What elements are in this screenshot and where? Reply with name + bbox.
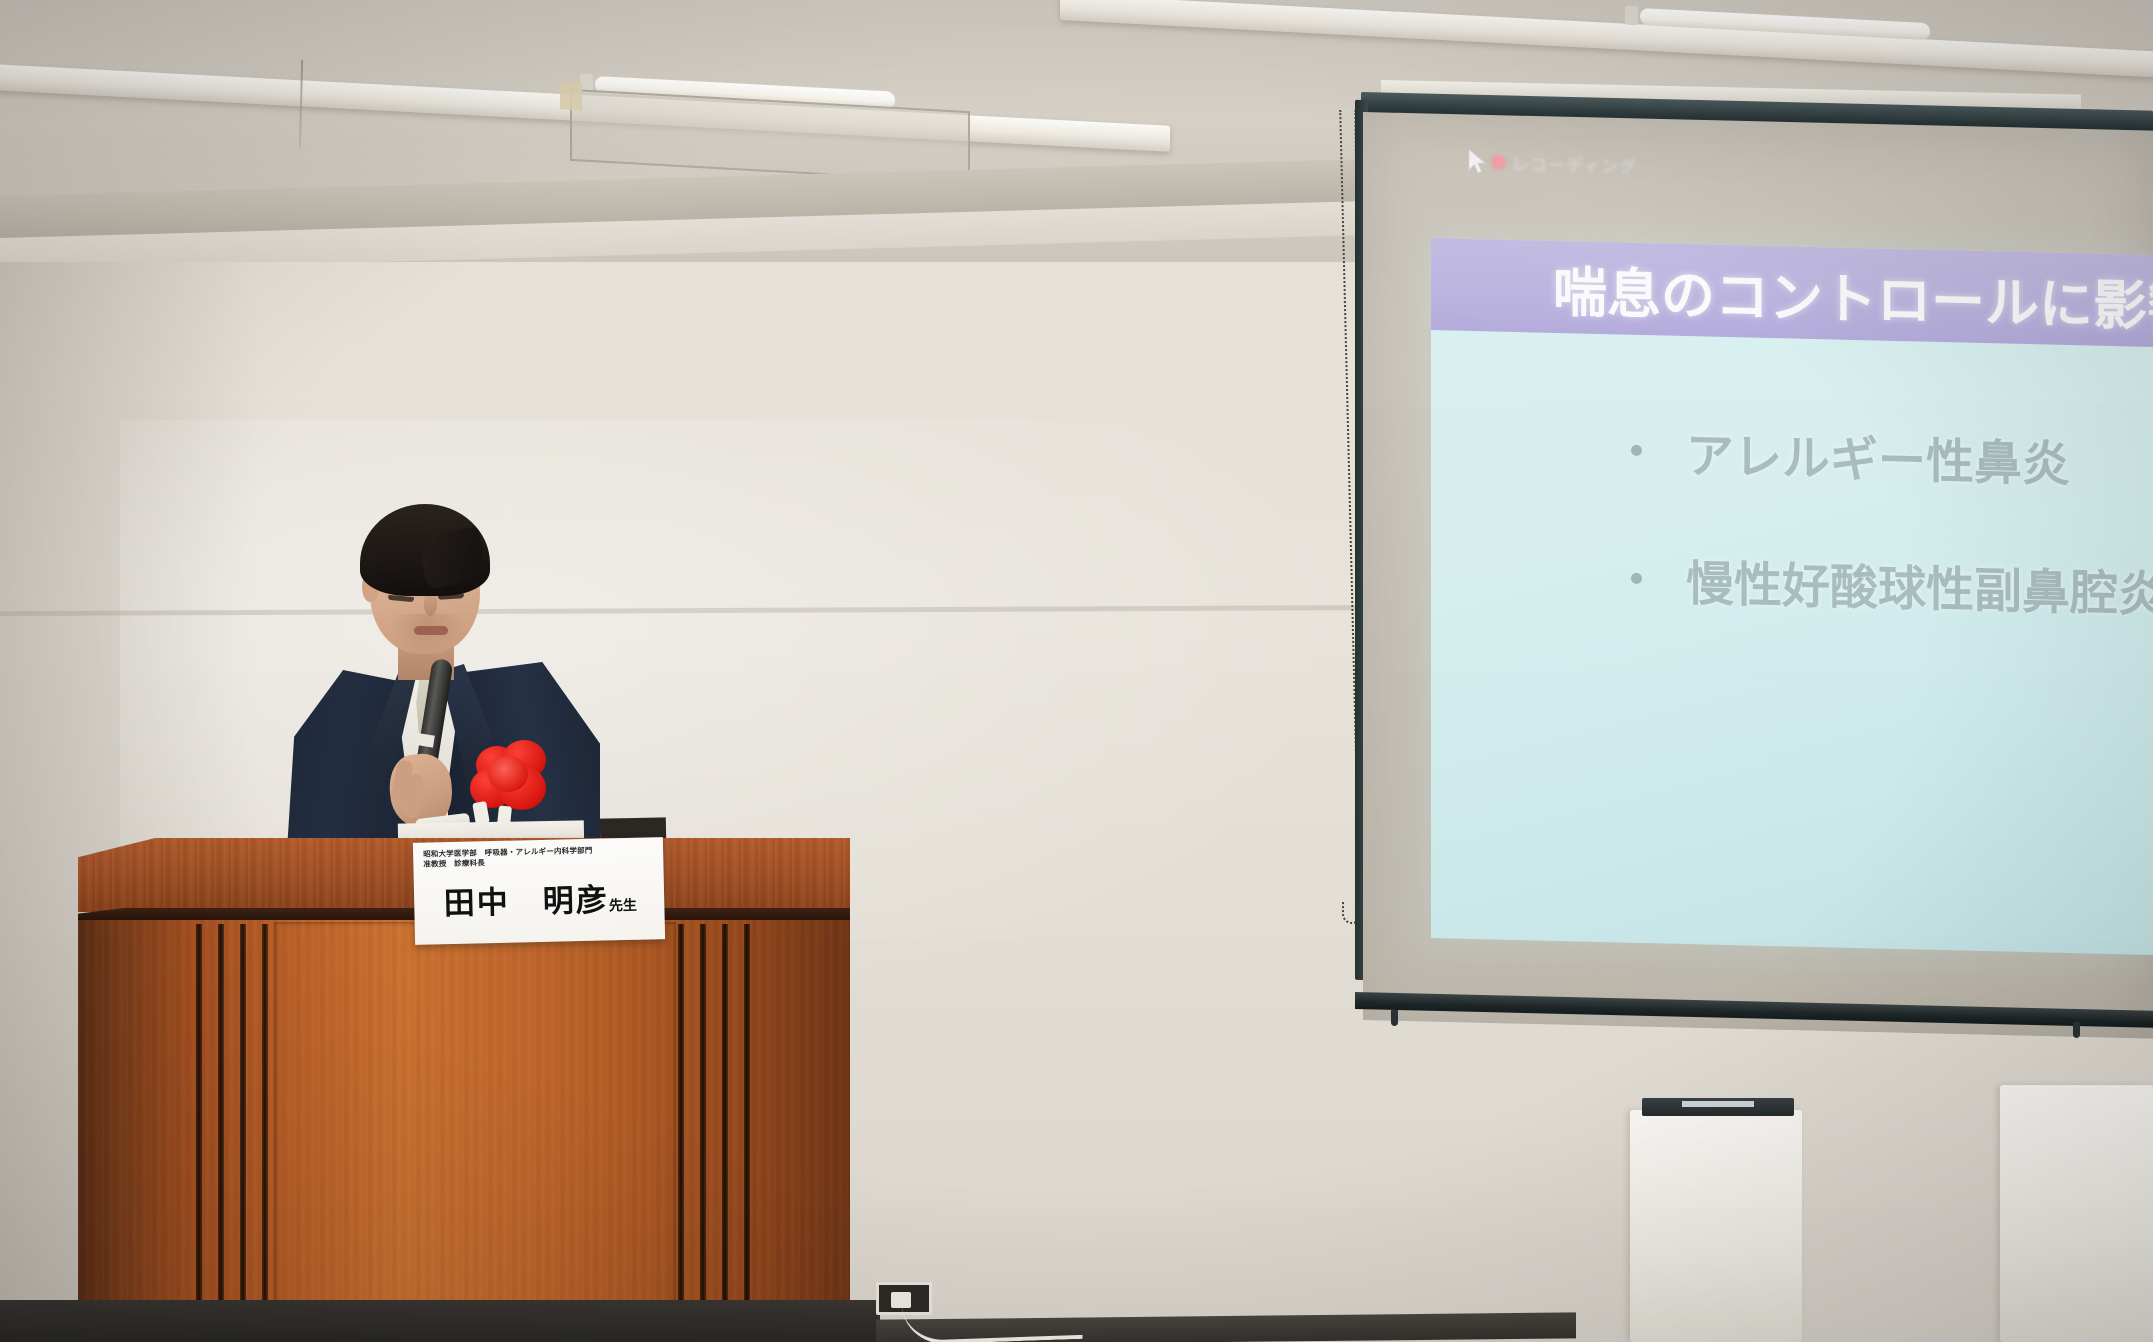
recording-indicator: レコーディング xyxy=(1467,148,1637,178)
slide-title-band: 喘息のコントロールに影響 xyxy=(1431,238,2153,347)
whiteboard-panel xyxy=(1630,1110,1802,1342)
podium-groove xyxy=(678,924,684,1342)
screen-hook-2 xyxy=(2073,1022,2080,1038)
record-dot-icon xyxy=(1492,155,1505,168)
slide-body: アレルギー性鼻炎 慢性好酸球性副鼻腔炎 xyxy=(1431,330,2153,955)
speaker-nameplate: 昭和大学医学部 呼吸器・アレルギー内科学部門 准教授 診療科長 田中 明彦先生 xyxy=(413,837,665,945)
red-corsage xyxy=(468,736,552,816)
projection-screen: レコーディング 喘息のコントロールに影響 アレルギー性鼻炎 慢性好酸球性副鼻腔炎 xyxy=(1355,92,2153,1072)
recording-label: レコーディング xyxy=(1512,150,1637,178)
podium-groove xyxy=(218,924,224,1342)
speaker-person xyxy=(272,498,612,866)
podium-groove xyxy=(700,924,706,1342)
podium-groove xyxy=(262,924,268,1342)
bullet-dot-icon xyxy=(1631,572,1642,583)
slide-title: 喘息のコントロールに影響 xyxy=(1553,247,2153,341)
presentation-slide: 喘息のコントロールに影響 アレルギー性鼻炎 慢性好酸球性副鼻腔炎 xyxy=(1431,238,2153,955)
mouth xyxy=(414,626,448,635)
power-cable xyxy=(901,1297,1082,1342)
nose xyxy=(424,594,437,616)
podium-groove xyxy=(744,924,750,1342)
slide-bullet-item: アレルギー性鼻炎 xyxy=(1631,415,2153,497)
slide-bullet-text: 慢性好酸球性副鼻腔炎 xyxy=(1686,544,2153,625)
bullet-dot-icon xyxy=(1631,444,1642,455)
floor-baseboard xyxy=(0,1300,880,1342)
nameplate-name-row: 田中 明彦先生 xyxy=(424,874,657,924)
whiteboard-clip xyxy=(1642,1098,1794,1116)
whiteboard-panel-2 xyxy=(2000,1085,2153,1342)
podium-center-panel xyxy=(274,922,676,1342)
light-cap-2 xyxy=(1625,6,1638,26)
slide-bullet-text: アレルギー性鼻炎 xyxy=(1686,416,2070,495)
nameplate-name: 田中 明彦 xyxy=(443,883,609,923)
podium-groove xyxy=(240,924,246,1342)
slide-bullet-item: 慢性好酸球性副鼻腔炎 xyxy=(1631,543,2153,625)
nameplate-honorific: 先生 xyxy=(609,898,637,915)
podium-groove xyxy=(722,924,728,1342)
screen-hook xyxy=(1391,1010,1398,1026)
cursor-arrow-icon xyxy=(1467,148,1489,175)
ceiling-tag xyxy=(560,81,582,110)
lecture-room-photo: レコーディング 喘息のコントロールに影響 アレルギー性鼻炎 慢性好酸球性副鼻腔炎 xyxy=(0,0,2153,1342)
podium-groove xyxy=(196,924,202,1342)
